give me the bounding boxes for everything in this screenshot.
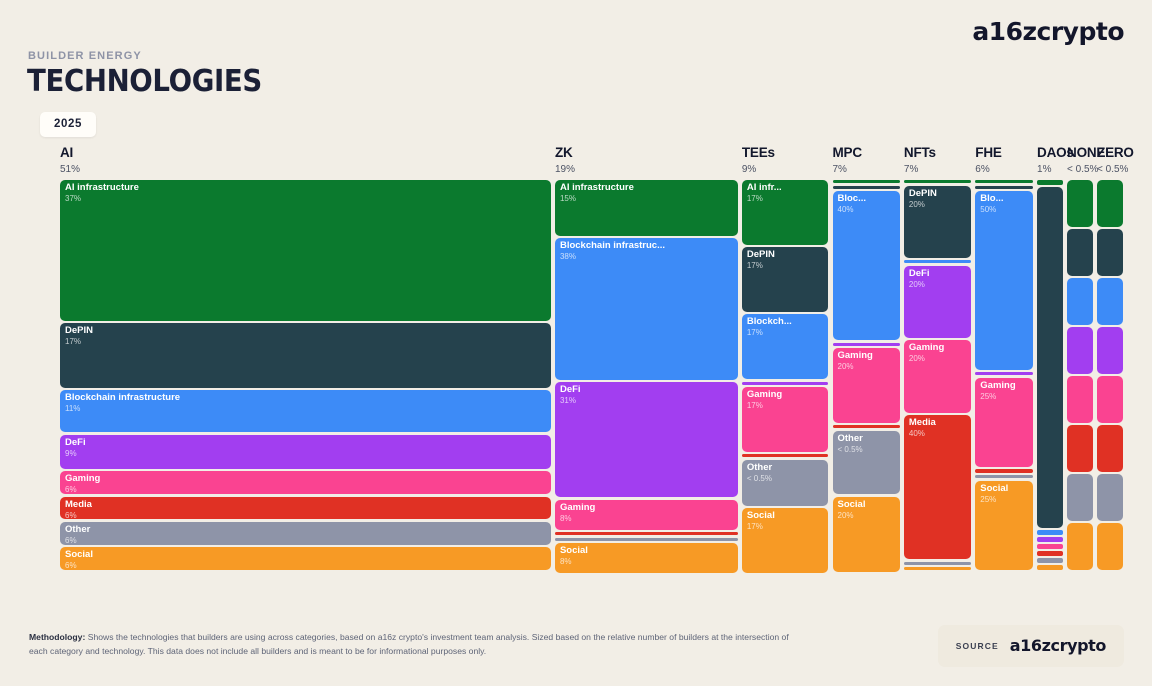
treemap-cell[interactable] [1037,551,1063,556]
cell-label: Social [838,499,866,511]
column-header: ZK19% [555,146,575,175]
column-share: 6% [975,164,1001,175]
treemap-column-fhe: FHE6%Blo...50%Gaming25%Social25% [975,146,1033,570]
column-name: MPC [833,146,862,160]
treemap-cell[interactable]: Gaming20% [833,348,900,423]
column-header: TEEs9% [742,146,775,175]
treemap-cell[interactable] [1037,187,1063,528]
treemap-cell[interactable] [555,532,738,535]
cell-label: Bloc... [838,193,867,205]
cell-label: Other [65,524,90,536]
column-share: 7% [904,164,936,175]
treemap-column-mpc: MPC7%Bloc...40%Gaming20%Other< 0.5%Socia… [833,146,900,570]
column-share: < 0.5% [1097,164,1134,175]
cell-percent: 25% [980,495,996,505]
cell-label: AI infrastructure [65,182,139,194]
treemap-cell[interactable]: Gaming25% [975,378,1033,467]
cell-label: AI infr... [747,182,782,194]
treemap-column-ai: AI51%AI infrastructure37%DePIN17%Blockch… [60,146,551,570]
treemap-cell[interactable] [1037,558,1063,563]
treemap-cell[interactable] [975,372,1033,375]
treemap-cell[interactable]: Blockch...17% [742,314,829,379]
cell-label: Gaming [560,502,595,514]
column-header: AI51% [60,146,80,175]
treemap-cell[interactable] [975,475,1033,478]
treemap-column-zk: ZK19%AI infrastructure15%Blockchain infr… [555,146,738,570]
treemap-cell[interactable] [1097,327,1123,374]
treemap-cell[interactable] [833,343,900,346]
treemap-cell[interactable] [1067,523,1093,570]
column-name: ZERO [1097,146,1134,160]
treemap-cell[interactable] [1037,537,1063,542]
source-badge: SOURCE a16zcrypto [938,625,1124,667]
cell-percent: 8% [560,514,572,524]
treemap-cell[interactable] [1037,565,1063,570]
cell-label: Gaming [65,473,100,485]
treemap-cell[interactable] [1097,278,1123,325]
cell-percent: 6% [65,561,77,570]
treemap-cell[interactable]: DePIN20% [904,186,971,258]
column-header: NFTs7% [904,146,936,175]
treemap-cell[interactable] [1037,530,1063,535]
treemap-cell[interactable]: AI infr...17% [742,180,829,245]
column-stack: Blo...50%Gaming25%Social25% [975,180,1033,570]
treemap-cell[interactable] [1097,425,1123,472]
page-title: TECHNOLOGIES [27,64,262,99]
treemap-cell[interactable] [1067,376,1093,423]
treemap-cell[interactable]: Gaming20% [904,340,971,412]
treemap-cell[interactable] [833,186,900,189]
technologies-treemap: AI51%AI infrastructure37%DePIN17%Blockch… [60,146,1072,570]
treemap-cell[interactable] [975,180,1033,183]
column-name: TEEs [742,146,775,160]
cell-label: Blockchain infrastruc... [560,240,665,252]
column-stack: AI infr...17%DePIN17%Blockch...17%Gaming… [742,180,829,570]
treemap-column-nfts: NFTs7%DePIN20%DeFi20%Gaming20%Media40% [904,146,971,570]
cell-percent: 6% [65,511,77,520]
column-stack: AI infrastructure15%Blockchain infrastru… [555,180,738,570]
treemap-cell[interactable] [833,180,900,183]
treemap-cell[interactable]: AI infrastructure15% [555,180,738,236]
treemap-cell[interactable] [833,425,900,428]
treemap-cell[interactable]: Gaming6% [60,471,551,494]
column-header: MPC7% [833,146,862,175]
column-stack [1097,180,1123,570]
column-name: AI [60,146,80,160]
treemap-cell[interactable] [1097,229,1123,276]
cell-label: Other [838,433,863,445]
treemap-cell[interactable]: Other< 0.5% [742,460,829,506]
treemap-cell[interactable] [1037,544,1063,549]
cell-label: Social [560,545,588,557]
cell-label: DeFi [65,437,86,449]
treemap-cell[interactable] [975,469,1033,472]
treemap-cell[interactable] [1097,376,1123,423]
treemap-cell[interactable] [1037,180,1063,185]
cell-label: Blockchain infrastructure [65,392,180,404]
column-stack [1037,180,1063,570]
eyebrow-label: BUILDER ENERGY [28,50,142,62]
treemap-cell[interactable]: Other6% [60,522,551,545]
treemap-cell[interactable]: DeFi9% [60,435,551,469]
treemap-cell[interactable]: DePIN17% [60,323,551,388]
treemap-cell[interactable]: Blo...50% [975,191,1033,369]
cell-percent: 20% [909,280,925,290]
column-share: 9% [742,164,775,175]
column-header: FHE6% [975,146,1001,175]
treemap-cell[interactable] [1067,474,1093,521]
treemap-cell[interactable]: Media40% [904,415,971,559]
treemap-cell[interactable]: DePIN17% [742,247,829,312]
cell-label: Social [980,483,1008,495]
column-stack: Bloc...40%Gaming20%Other< 0.5%Social20% [833,180,900,570]
cell-label: Other [747,462,772,474]
cell-label: AI infrastructure [560,182,634,194]
treemap-cell[interactable]: Bloc...40% [833,191,900,340]
treemap-column-daos: DAOs1% [1037,146,1063,570]
treemap-cell[interactable] [1067,327,1093,374]
cell-label: DeFi [560,384,581,396]
source-brand-logo: a16zcrypto [1010,636,1106,655]
cell-label: DeFi [909,268,930,280]
cell-percent: 9% [65,449,77,459]
column-stack [1067,180,1093,570]
treemap-cell[interactable]: Blockchain infrastruc...38% [555,238,738,379]
cell-percent: 37% [65,194,81,204]
column-stack: DePIN20%DeFi20%Gaming20%Media40% [904,180,971,570]
cell-label: DePIN [65,325,93,337]
cell-label: Social [747,510,775,522]
treemap-cell[interactable] [555,538,738,541]
cell-label: Gaming [838,350,873,362]
treemap-cell[interactable] [1067,278,1093,325]
methodology-text: Shows the technologies that builders are… [29,632,789,656]
column-stack: AI infrastructure37%DePIN17%Blockchain i… [60,180,551,570]
treemap-cell[interactable]: Other< 0.5% [833,431,900,494]
treemap-cell[interactable] [742,454,829,457]
infographic-root: a16zcrypto BUILDER ENERGY TECHNOLOGIES 2… [0,0,1152,686]
treemap-cell[interactable] [1067,229,1093,276]
treemap-cell[interactable]: Social8% [555,543,738,573]
column-header: ZERO< 0.5% [1097,146,1134,175]
column-name: ZK [555,146,575,160]
treemap-cell[interactable] [1067,180,1093,227]
cell-percent: 6% [65,536,77,545]
column-share: 19% [555,164,575,175]
cell-label: Social [65,549,93,561]
cell-label: Media [909,417,936,429]
treemap-cell[interactable]: DeFi31% [555,382,738,497]
cell-percent: 17% [65,337,81,347]
treemap-cell[interactable]: Social25% [975,481,1033,570]
cell-percent: 8% [560,557,572,567]
treemap-cell[interactable] [904,562,971,565]
cell-percent: 17% [747,401,763,411]
treemap-cell[interactable] [904,260,971,263]
column-share: 7% [833,164,862,175]
cell-percent: 40% [909,429,925,439]
treemap-cell[interactable] [1097,523,1123,570]
treemap-cell[interactable]: Blockchain infrastructure11% [60,390,551,432]
cell-percent: 17% [747,194,763,204]
treemap-cell[interactable] [904,567,971,570]
cell-percent: 31% [560,396,576,406]
treemap-cell[interactable] [1097,180,1123,227]
cell-percent: 38% [560,252,576,262]
treemap-cell[interactable]: Gaming17% [742,387,829,452]
cell-label: Media [65,499,92,511]
a16zcrypto-logo: a16zcrypto [972,17,1124,46]
cell-percent: 20% [838,362,854,372]
treemap-cell[interactable] [904,180,971,183]
column-name: NFTs [904,146,936,160]
cell-percent: < 0.5% [747,474,772,484]
treemap-cell[interactable] [742,382,829,385]
cell-percent: 17% [747,261,763,271]
treemap-cell[interactable]: AI infrastructure37% [60,180,551,321]
cell-label: Blockch... [747,316,792,328]
cell-label: DePIN [747,249,775,261]
cell-percent: 11% [65,404,80,414]
column-name: FHE [975,146,1001,160]
treemap-cell[interactable] [1097,474,1123,521]
cell-label: DePIN [909,188,937,200]
cell-label: Gaming [909,342,944,354]
cell-percent: 20% [909,354,925,364]
treemap-column-none: NONE< 0.5% [1067,146,1093,570]
column-share: 51% [60,164,80,175]
cell-percent: < 0.5% [838,445,863,455]
cell-percent: 15% [560,194,576,204]
treemap-cell[interactable]: Media6% [60,497,551,520]
treemap-column-tees: TEEs9%AI infr...17%DePIN17%Blockch...17%… [742,146,829,570]
treemap-cell[interactable] [1067,425,1093,472]
cell-label: Blo... [980,193,1003,205]
cell-percent: 17% [747,522,763,532]
treemap-cell[interactable]: Gaming8% [555,500,738,530]
cell-percent: 50% [980,205,996,215]
cell-percent: 20% [838,511,854,521]
cell-percent: 20% [909,200,925,210]
treemap-cell[interactable]: Social20% [833,497,900,572]
cell-percent: 6% [65,485,77,494]
cell-percent: 17% [747,328,763,338]
cell-percent: 40% [838,205,854,215]
source-label: SOURCE [956,641,999,651]
treemap-column-zero: ZERO< 0.5% [1097,146,1123,570]
treemap-cell[interactable]: Social17% [742,508,829,573]
treemap-cell[interactable]: DeFi20% [904,266,971,338]
treemap-cell[interactable]: Social6% [60,547,551,570]
methodology-label: Methodology: [29,632,85,642]
cell-label: Gaming [980,380,1015,392]
cell-label: Gaming [747,389,782,401]
cell-percent: 25% [980,392,996,402]
year-pill-2025[interactable]: 2025 [40,112,96,137]
methodology-note: Methodology: Shows the technologies that… [29,630,804,658]
treemap-cell[interactable] [975,186,1033,189]
